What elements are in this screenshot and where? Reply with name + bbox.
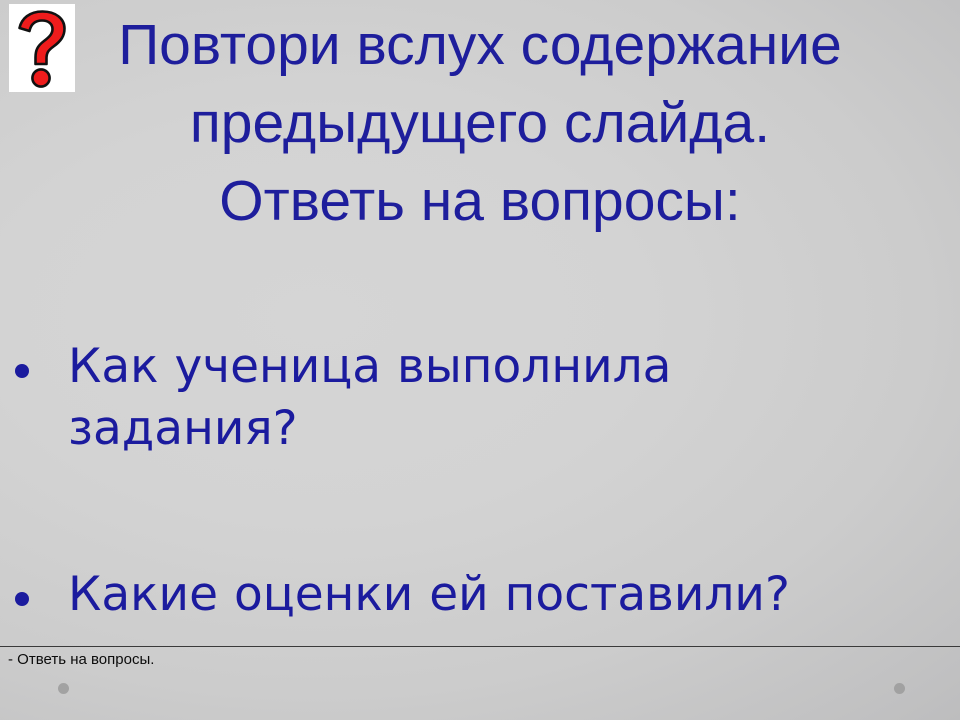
list-item: Какие оценки ей поставили? [0,564,960,628]
footer-note: - Ответь на вопросы. [8,650,154,670]
list-item-label: Какие оценки ей поставили? [68,564,940,626]
bullet-dot-icon [15,364,29,378]
list-item: Как ученица выполнила задания? [0,336,960,460]
page-title: Повтори вслух содержание предыдущего сла… [0,0,960,240]
decorative-dot-icon [58,683,69,694]
decorative-dot-icon [894,683,905,694]
question-list: Как ученица выполнила задания? Какие оце… [0,336,960,628]
title-line-2: предыдущего слайда. [0,84,960,162]
slide-canvas: Повтори вслух содержание предыдущего сла… [0,0,960,720]
title-line-3: Ответь на вопросы: [0,162,960,240]
title-line-1: Повтори вслух содержание [0,0,960,84]
list-item-label: Как ученица выполнила задания? [68,336,728,460]
footer-divider [0,646,960,647]
bullet-dot-icon [15,592,29,606]
